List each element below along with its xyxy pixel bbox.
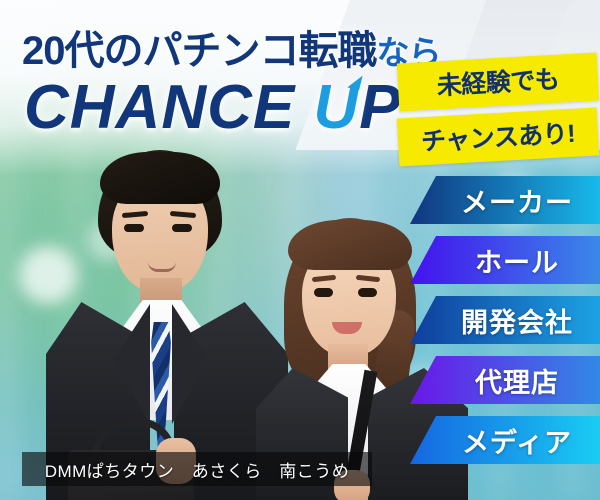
job-category-tag-label: 代理店 <box>461 361 559 400</box>
highlight-badge: 未経験でも チャンスあり! <box>398 58 598 161</box>
man-eye-right <box>172 224 192 232</box>
credit-strip: DMMぱちタウン あさくら 南こうめ <box>22 452 372 486</box>
man-fringe <box>100 152 220 204</box>
chance-up-logo: CHANCE UP <box>24 72 402 143</box>
job-category-list: メーカーホール開発会社代理店メディア <box>410 176 600 476</box>
job-category-tag[interactable]: メーカー <box>410 176 600 224</box>
job-category-tag[interactable]: 開発会社 <box>410 296 600 344</box>
logo-letter-p: P <box>359 73 401 142</box>
job-category-tag[interactable]: 代理店 <box>410 356 600 404</box>
job-category-tag[interactable]: メディア <box>410 416 600 464</box>
headline-main: 20代のパチンコ転職 <box>22 29 377 73</box>
job-category-tag-label: 開発会社 <box>447 301 573 340</box>
job-category-tag-label: メーカー <box>447 181 573 220</box>
headline: 20代のパチンコ転職なら <box>22 18 441 76</box>
logo-word-chance: CHANCE <box>24 73 295 142</box>
badge-line-2: チャンスあり! <box>397 107 599 166</box>
woman-eye-right <box>358 288 377 297</box>
job-category-tag-label: ホール <box>461 241 559 280</box>
job-category-tag-label: メディア <box>448 421 572 460</box>
badge-line-1: 未経験でも <box>397 52 599 111</box>
logo-letter-u-arrow-icon: U <box>313 72 359 143</box>
woman-fringe <box>288 220 412 270</box>
credit-text: DMMぱちタウン あさくら 南こうめ <box>45 457 350 482</box>
man-eye-left <box>124 224 144 232</box>
job-category-tag[interactable]: ホール <box>410 236 600 284</box>
advertisement-banner[interactable]: 20代のパチンコ転職なら CHANCE UP 未経験でも チャンスあり! メーカ… <box>0 0 600 500</box>
woman-eye-left <box>314 288 333 297</box>
